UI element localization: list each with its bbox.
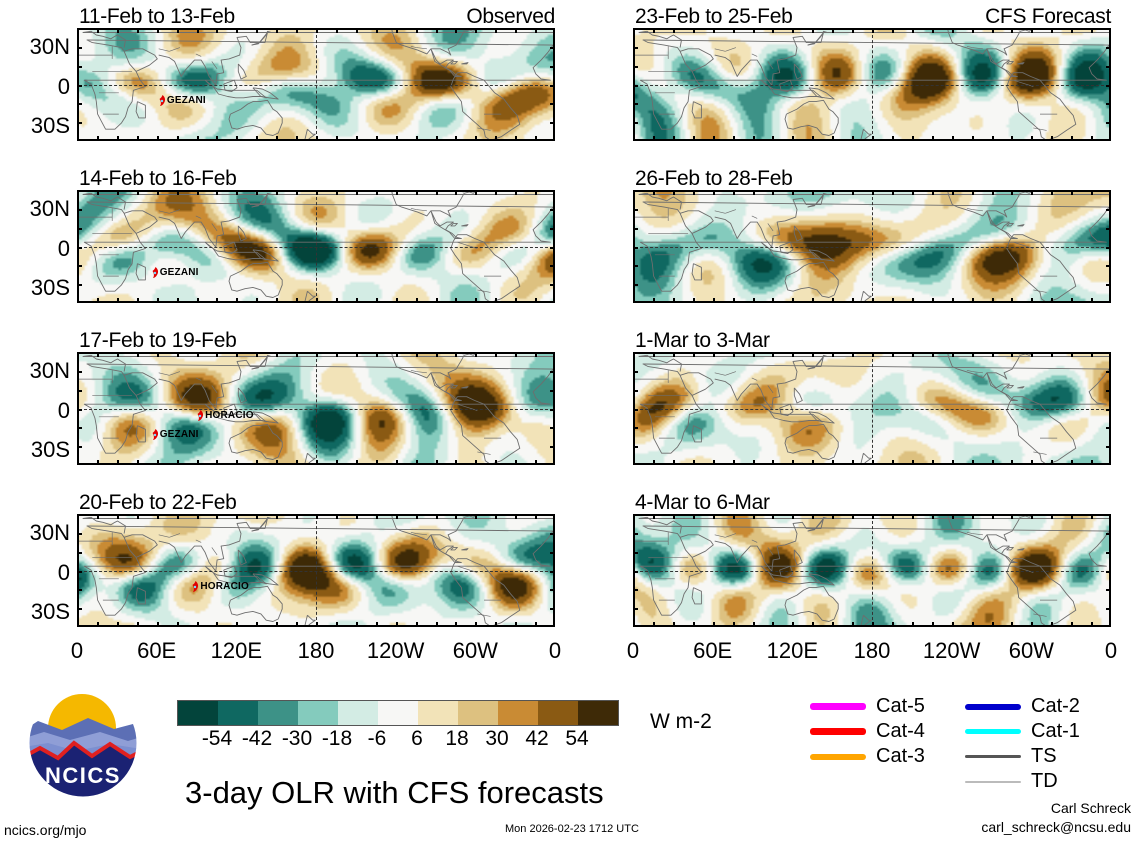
axis-tick xyxy=(952,298,954,303)
axis-tick xyxy=(952,460,954,465)
axis-tick xyxy=(932,190,934,195)
axis-tick xyxy=(1031,352,1033,357)
axis-tick xyxy=(515,514,517,519)
axis-tick xyxy=(475,28,477,33)
axis-tick xyxy=(475,136,477,141)
axis-tick xyxy=(633,47,638,49)
axis-tick xyxy=(177,136,179,141)
axis-tick xyxy=(535,136,537,141)
dateline xyxy=(316,192,317,301)
axis-tick xyxy=(475,460,477,465)
axis-tick xyxy=(436,298,438,303)
storm-symbol-icon xyxy=(191,580,200,593)
axis-tick xyxy=(633,371,638,373)
axis-tick xyxy=(1106,533,1111,535)
axis-tick xyxy=(633,608,638,610)
legend-item-cat-1: Cat-1 xyxy=(965,720,1080,743)
coastline-overlay xyxy=(635,30,1111,141)
axis-tick xyxy=(812,298,814,303)
axis-tick xyxy=(1071,136,1073,141)
axis-tick xyxy=(535,352,537,357)
axis-tick xyxy=(77,85,82,87)
axis-tick xyxy=(256,622,258,627)
axis-tick xyxy=(1011,352,1013,357)
axis-tick xyxy=(772,136,774,141)
axis-tick xyxy=(693,460,695,465)
axis-tick xyxy=(276,136,278,141)
colorbar-segment xyxy=(338,701,378,725)
axis-tick xyxy=(832,622,834,627)
axis-tick xyxy=(197,28,199,33)
axis-tick xyxy=(832,352,834,357)
axis-tick xyxy=(455,190,457,195)
axis-tick xyxy=(912,28,914,33)
axis-tick xyxy=(772,460,774,465)
axis-tick xyxy=(515,352,517,357)
storm-track-gezani: GEZANI xyxy=(151,266,199,279)
axis-tick xyxy=(77,265,82,267)
colorbar-segment xyxy=(298,701,338,725)
axis-tick xyxy=(216,460,218,465)
x-tick-label: 120E xyxy=(191,638,281,664)
x-tick-label: 60E xyxy=(112,638,202,664)
olr-colorbar xyxy=(177,700,619,726)
axis-tick xyxy=(633,247,638,249)
storm-symbol-icon xyxy=(151,266,160,279)
axis-tick xyxy=(992,514,994,519)
axis-tick xyxy=(216,298,218,303)
legend-color-swatch xyxy=(810,728,866,735)
axis-tick xyxy=(733,190,735,195)
axis-tick xyxy=(137,622,139,627)
axis-tick xyxy=(693,298,695,303)
axis-tick xyxy=(952,622,954,627)
axis-tick xyxy=(753,460,755,465)
axis-tick xyxy=(416,622,418,627)
axis-tick xyxy=(77,390,82,392)
axis-tick xyxy=(633,571,638,573)
axis-tick xyxy=(376,622,378,627)
axis-tick xyxy=(157,28,159,33)
axis-tick xyxy=(673,190,675,195)
axis-tick xyxy=(1071,622,1073,627)
axis-tick xyxy=(912,190,914,195)
axis-tick xyxy=(693,28,695,33)
axis-tick xyxy=(872,136,874,141)
axis-tick xyxy=(1106,409,1111,411)
axis-tick xyxy=(550,122,555,124)
y-tick-label: 30N xyxy=(0,520,70,546)
axis-tick xyxy=(336,190,338,195)
axis-tick xyxy=(733,352,735,357)
axis-tick xyxy=(356,460,358,465)
axis-tick xyxy=(436,514,438,519)
axis-tick xyxy=(97,352,99,357)
axis-tick xyxy=(792,136,794,141)
legend-item-cat-3: Cat-3 xyxy=(810,745,925,768)
axis-tick xyxy=(550,209,555,211)
axis-tick xyxy=(535,622,537,627)
axis-tick xyxy=(416,136,418,141)
axis-tick xyxy=(892,136,894,141)
axis-tick xyxy=(892,28,894,33)
axis-tick xyxy=(416,460,418,465)
axis-tick xyxy=(296,136,298,141)
axis-tick xyxy=(1071,460,1073,465)
axis-tick xyxy=(972,190,974,195)
storm-label: GEZANI xyxy=(160,429,199,440)
axis-tick xyxy=(852,460,854,465)
axis-tick xyxy=(157,298,159,303)
axis-tick xyxy=(276,190,278,195)
axis-tick xyxy=(336,136,338,141)
axis-tick xyxy=(1011,28,1013,33)
axis-tick xyxy=(97,460,99,465)
axis-tick xyxy=(117,514,119,519)
map-panel-obs-3: HORACIOGEZANI xyxy=(77,352,555,465)
axis-tick xyxy=(396,298,398,303)
axis-tick xyxy=(396,460,398,465)
axis-tick xyxy=(515,460,517,465)
site-url[interactable]: ncics.org/mjo xyxy=(4,822,86,838)
axis-tick xyxy=(1106,47,1111,49)
axis-tick xyxy=(137,352,139,357)
axis-tick xyxy=(117,136,119,141)
axis-tick xyxy=(693,622,695,627)
axis-tick xyxy=(733,28,735,33)
axis-tick xyxy=(1091,352,1093,357)
x-tick-label: 120E xyxy=(747,638,837,664)
axis-tick xyxy=(197,298,199,303)
axis-tick xyxy=(1051,622,1053,627)
axis-tick xyxy=(1106,103,1111,105)
axis-tick xyxy=(256,136,258,141)
axis-tick xyxy=(673,460,675,465)
axis-tick xyxy=(495,298,497,303)
axis-tick xyxy=(236,136,238,141)
axis-tick xyxy=(436,622,438,627)
storm-label: GEZANI xyxy=(167,95,206,106)
axis-tick xyxy=(653,28,655,33)
axis-tick xyxy=(832,514,834,519)
y-tick-label: 30S xyxy=(0,599,70,625)
axis-tick xyxy=(1011,190,1013,195)
axis-tick xyxy=(197,136,199,141)
y-tick-label: 30N xyxy=(0,196,70,222)
axis-tick xyxy=(455,352,457,357)
axis-tick xyxy=(117,622,119,627)
axis-tick xyxy=(316,136,318,141)
legend-label: Cat-1 xyxy=(1031,720,1080,743)
x-tick-label: 180 xyxy=(827,638,917,664)
logo-text: NCICS xyxy=(45,763,121,788)
ncics-logo: NCICS xyxy=(18,688,148,803)
axis-tick xyxy=(77,446,82,448)
axis-tick xyxy=(633,533,638,535)
axis-tick xyxy=(693,514,695,519)
coastline-overlay xyxy=(635,192,1111,303)
legend-label: TS xyxy=(1031,745,1057,768)
axis-tick xyxy=(436,352,438,357)
axis-tick xyxy=(77,371,82,373)
legend-label: Cat-4 xyxy=(876,720,925,743)
axis-tick xyxy=(236,622,238,627)
axis-tick xyxy=(912,352,914,357)
axis-tick xyxy=(97,622,99,627)
axis-tick xyxy=(256,190,258,195)
axis-tick xyxy=(216,136,218,141)
axis-tick xyxy=(550,446,555,448)
axis-tick xyxy=(693,136,695,141)
axis-tick xyxy=(97,190,99,195)
axis-tick xyxy=(1106,265,1111,267)
axis-tick xyxy=(550,371,555,373)
coastline-overlay xyxy=(79,192,555,303)
axis-tick xyxy=(912,514,914,519)
dateline xyxy=(316,354,317,463)
axis-tick xyxy=(852,28,854,33)
axis-tick xyxy=(495,28,497,33)
axis-tick xyxy=(455,514,457,519)
axis-tick xyxy=(812,514,814,519)
storm-symbol-icon xyxy=(151,428,160,441)
storm-track-gezani: GEZANI xyxy=(151,428,199,441)
axis-tick xyxy=(733,514,735,519)
x-tick-label: 60W xyxy=(430,638,520,664)
axis-tick xyxy=(550,608,555,610)
colorbar-segment xyxy=(498,701,538,725)
legend-item-ts: TS xyxy=(965,745,1057,768)
axis-tick xyxy=(356,352,358,357)
axis-tick xyxy=(653,352,655,357)
axis-tick xyxy=(535,190,537,195)
axis-tick xyxy=(177,190,179,195)
axis-tick xyxy=(77,589,82,591)
axis-tick xyxy=(1071,514,1073,519)
axis-tick xyxy=(77,247,82,249)
axis-tick xyxy=(713,352,715,357)
axis-tick xyxy=(1071,352,1073,357)
axis-tick xyxy=(653,190,655,195)
axis-tick xyxy=(653,136,655,141)
coastline-overlay xyxy=(635,516,1111,627)
axis-tick xyxy=(1031,298,1033,303)
axis-tick xyxy=(1106,371,1111,373)
axis-tick xyxy=(872,622,874,627)
colorbar-segment xyxy=(378,701,418,725)
axis-tick xyxy=(633,122,638,124)
axis-tick xyxy=(1091,622,1093,627)
panel-title-obs-4: 20-Feb to 22-Feb xyxy=(79,491,236,515)
axis-tick xyxy=(832,28,834,33)
axis-tick xyxy=(535,514,537,519)
axis-tick xyxy=(236,514,238,519)
axis-tick xyxy=(1106,571,1111,573)
axis-tick xyxy=(77,47,82,49)
axis-tick xyxy=(912,622,914,627)
axis-tick xyxy=(792,190,794,195)
axis-tick xyxy=(535,460,537,465)
axis-tick xyxy=(475,190,477,195)
storm-symbol-icon xyxy=(196,409,205,422)
map-panel-obs-2: GEZANI xyxy=(77,190,555,303)
axis-tick xyxy=(356,190,358,195)
axis-tick xyxy=(812,460,814,465)
axis-tick xyxy=(1106,209,1111,211)
x-tick-label: 0 xyxy=(32,638,122,664)
axis-tick xyxy=(177,352,179,357)
axis-tick xyxy=(157,622,159,627)
axis-tick xyxy=(97,298,99,303)
axis-tick xyxy=(376,352,378,357)
axis-tick xyxy=(535,298,537,303)
axis-tick xyxy=(396,622,398,627)
axis-tick xyxy=(276,352,278,357)
axis-tick xyxy=(117,298,119,303)
dateline xyxy=(872,30,873,139)
axis-tick xyxy=(296,622,298,627)
axis-tick xyxy=(316,460,318,465)
axis-tick xyxy=(316,514,318,519)
axis-tick xyxy=(157,514,159,519)
axis-tick xyxy=(753,298,755,303)
panel-title-obs-3: 17-Feb to 19-Feb xyxy=(79,329,236,353)
axis-tick xyxy=(912,460,914,465)
axis-tick xyxy=(495,190,497,195)
axis-tick xyxy=(733,460,735,465)
axis-tick xyxy=(1106,228,1111,230)
axis-tick xyxy=(972,298,974,303)
axis-tick xyxy=(495,622,497,627)
coastline-overlay xyxy=(79,354,555,465)
axis-tick xyxy=(177,28,179,33)
colorbar-segment xyxy=(578,701,618,725)
axis-tick xyxy=(633,228,638,230)
storm-track-gezani: GEZANI xyxy=(158,94,206,107)
axis-tick xyxy=(550,103,555,105)
axis-tick xyxy=(396,28,398,33)
axis-tick xyxy=(972,460,974,465)
axis-tick xyxy=(633,85,638,87)
axis-tick xyxy=(515,622,517,627)
axis-tick xyxy=(1091,190,1093,195)
dateline xyxy=(316,516,317,625)
axis-tick xyxy=(475,352,477,357)
axis-tick xyxy=(812,136,814,141)
axis-tick xyxy=(1106,284,1111,286)
axis-tick xyxy=(1031,136,1033,141)
axis-tick xyxy=(872,28,874,33)
axis-tick xyxy=(932,28,934,33)
y-tick-label: 0 xyxy=(0,560,70,586)
author-name: Carl Schreck xyxy=(935,800,1131,816)
axis-tick xyxy=(852,136,854,141)
axis-tick xyxy=(77,66,82,68)
x-tick-label: 180 xyxy=(271,638,361,664)
axis-tick xyxy=(216,190,218,195)
axis-tick xyxy=(852,352,854,357)
axis-tick xyxy=(515,28,517,33)
axis-tick xyxy=(356,298,358,303)
axis-tick xyxy=(633,409,638,411)
legend-item-td: TD xyxy=(965,770,1058,793)
axis-tick xyxy=(550,265,555,267)
panel-title-cfs-3: 1-Mar to 3-Mar xyxy=(635,329,770,353)
axis-tick xyxy=(1106,552,1111,554)
axis-tick xyxy=(376,514,378,519)
panel-title-cfs-2: 26-Feb to 28-Feb xyxy=(635,167,792,191)
axis-tick xyxy=(1091,514,1093,519)
axis-tick xyxy=(1051,136,1053,141)
axis-tick xyxy=(633,66,638,68)
author-email[interactable]: carl_schreck@ncsu.edu xyxy=(905,819,1131,835)
axis-tick xyxy=(1051,190,1053,195)
axis-tick xyxy=(892,622,894,627)
axis-tick xyxy=(276,622,278,627)
axis-tick xyxy=(157,190,159,195)
legend-label: TD xyxy=(1031,770,1058,793)
axis-tick xyxy=(713,514,715,519)
axis-tick xyxy=(535,28,537,33)
storm-label: HORACIO xyxy=(200,581,249,592)
axis-tick xyxy=(157,460,159,465)
y-tick-label: 30S xyxy=(0,275,70,301)
axis-tick xyxy=(137,28,139,33)
axis-tick xyxy=(197,460,199,465)
axis-tick xyxy=(932,298,934,303)
axis-tick xyxy=(832,136,834,141)
axis-tick xyxy=(753,190,755,195)
axis-tick xyxy=(992,622,994,627)
axis-tick xyxy=(117,28,119,33)
axis-tick xyxy=(550,427,555,429)
map-panel-cfs-4 xyxy=(633,514,1111,627)
map-panel-obs-1: GEZANI xyxy=(77,28,555,141)
axis-tick xyxy=(550,85,555,87)
axis-tick xyxy=(356,28,358,33)
axis-tick xyxy=(515,190,517,195)
axis-tick xyxy=(236,28,238,33)
axis-tick xyxy=(256,298,258,303)
axis-tick xyxy=(1031,190,1033,195)
axis-tick xyxy=(673,352,675,357)
axis-tick xyxy=(952,190,954,195)
axis-tick xyxy=(236,190,238,195)
axis-tick xyxy=(157,352,159,357)
axis-tick xyxy=(256,460,258,465)
axis-tick xyxy=(77,533,82,535)
axis-tick xyxy=(633,390,638,392)
axis-tick xyxy=(932,460,934,465)
axis-tick xyxy=(872,352,874,357)
axis-tick xyxy=(550,47,555,49)
axis-tick xyxy=(356,514,358,519)
axis-tick xyxy=(197,190,199,195)
axis-tick xyxy=(216,622,218,627)
axis-tick xyxy=(550,552,555,554)
axis-tick xyxy=(77,228,82,230)
axis-tick xyxy=(713,622,715,627)
legend-color-swatch xyxy=(965,704,1021,710)
axis-tick xyxy=(416,514,418,519)
y-tick-label: 30N xyxy=(0,358,70,384)
axis-tick xyxy=(455,622,457,627)
axis-tick xyxy=(550,571,555,573)
axis-tick xyxy=(276,298,278,303)
axis-tick xyxy=(1106,66,1111,68)
axis-tick xyxy=(753,28,755,33)
axis-tick xyxy=(992,460,994,465)
